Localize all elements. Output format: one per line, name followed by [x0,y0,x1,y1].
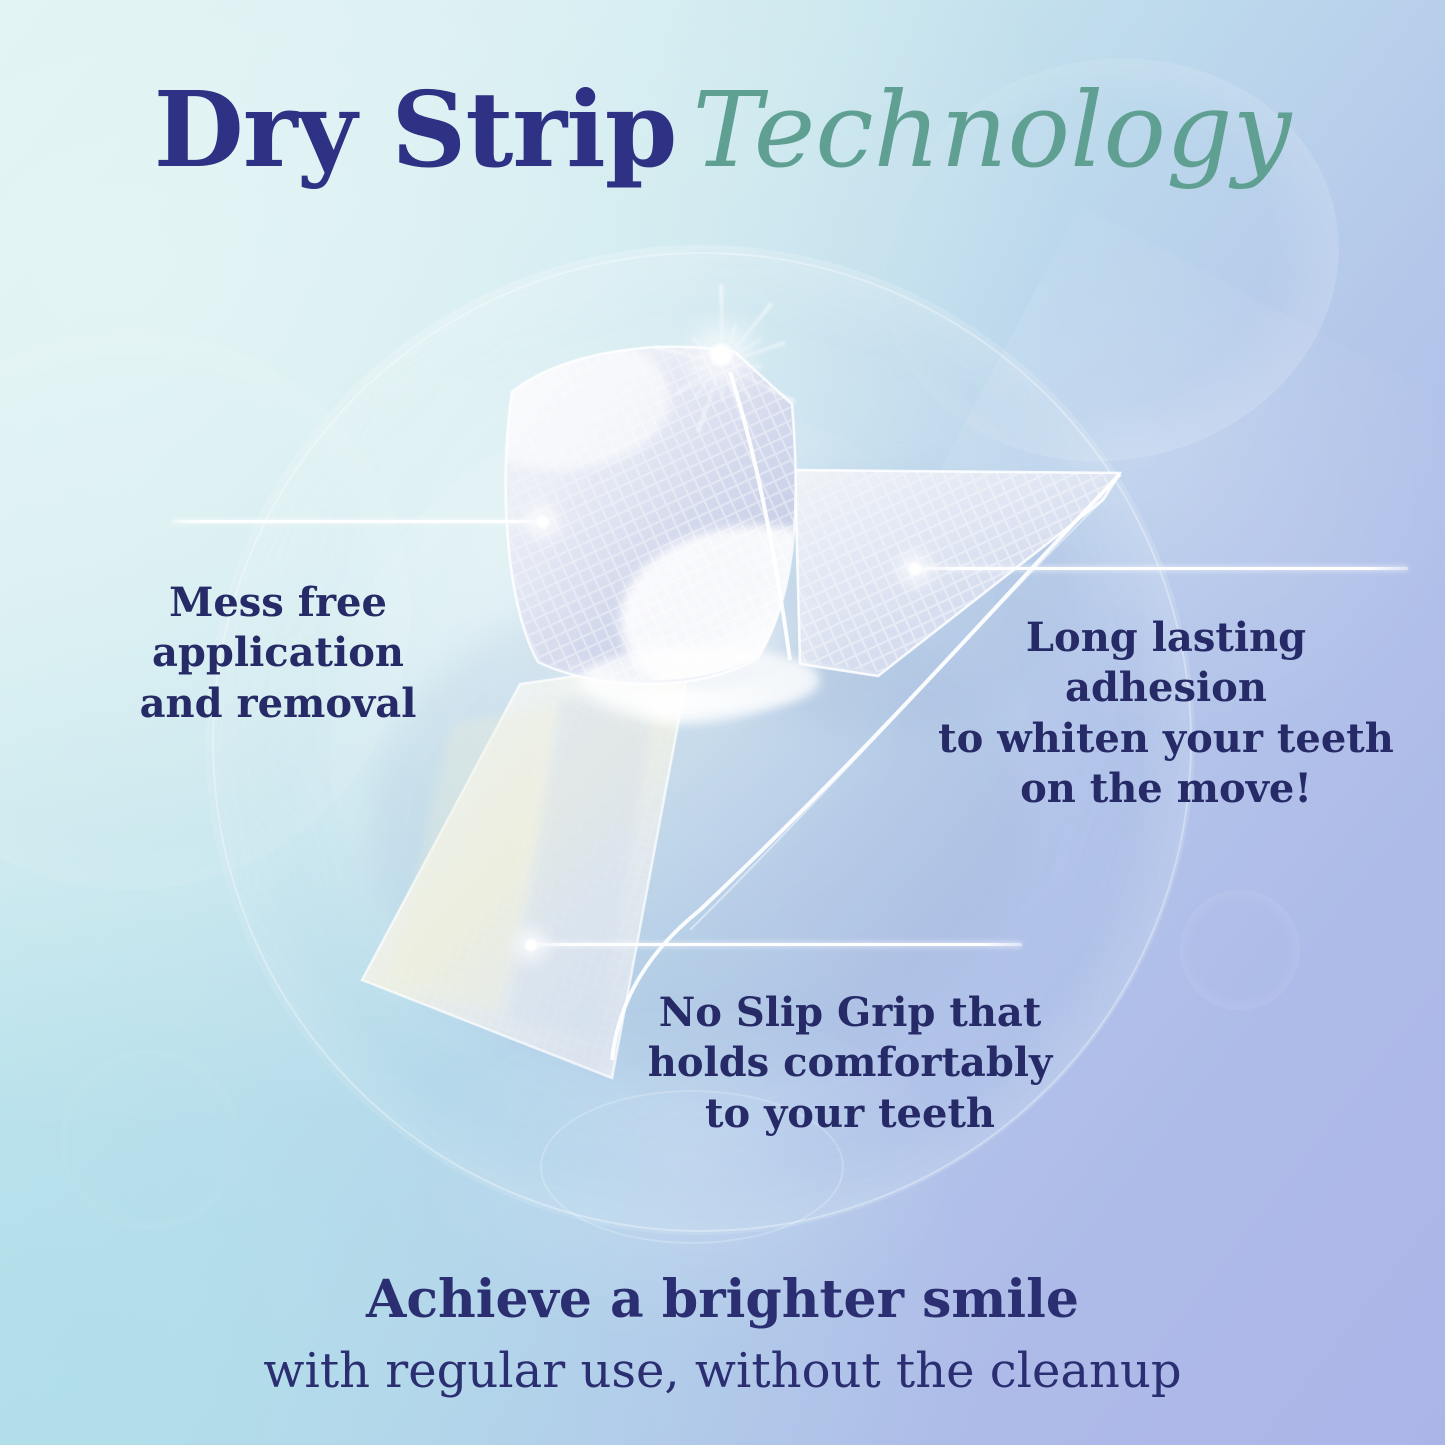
page-title-italic: Technology [692,69,1291,191]
page-title-bold: Dry Strip [154,68,677,191]
footer-headline: Achieve a brighter smile [0,1269,1445,1330]
page-title: Dry StripTechnology [0,78,1445,182]
callout-mess-free: Mess free application and removal [88,578,468,729]
bubble-icon-small-left [60,1050,240,1230]
glow-dot-icon-mess-free [534,513,552,531]
glow-dot-icon-no-slip-grip [522,936,540,954]
glow-dot-icon-long-lasting [906,560,924,578]
leader-line-long-lasting [918,567,1408,570]
leader-line-mess-free [172,520,540,523]
infographic-canvas: Dry StripTechnology [0,0,1445,1445]
footer-subline: with regular use, without the cleanup [0,1343,1445,1399]
sparkle-core-icon [706,340,736,370]
callout-no-slip-grip: No Slip Grip that holds comfortably to y… [630,988,1070,1139]
callout-long-lasting-adhesion: Long lasting adhesion to whiten your tee… [920,613,1412,815]
bubble-icon-small-right [1180,890,1300,1010]
leader-line-no-slip-grip [530,943,1022,946]
